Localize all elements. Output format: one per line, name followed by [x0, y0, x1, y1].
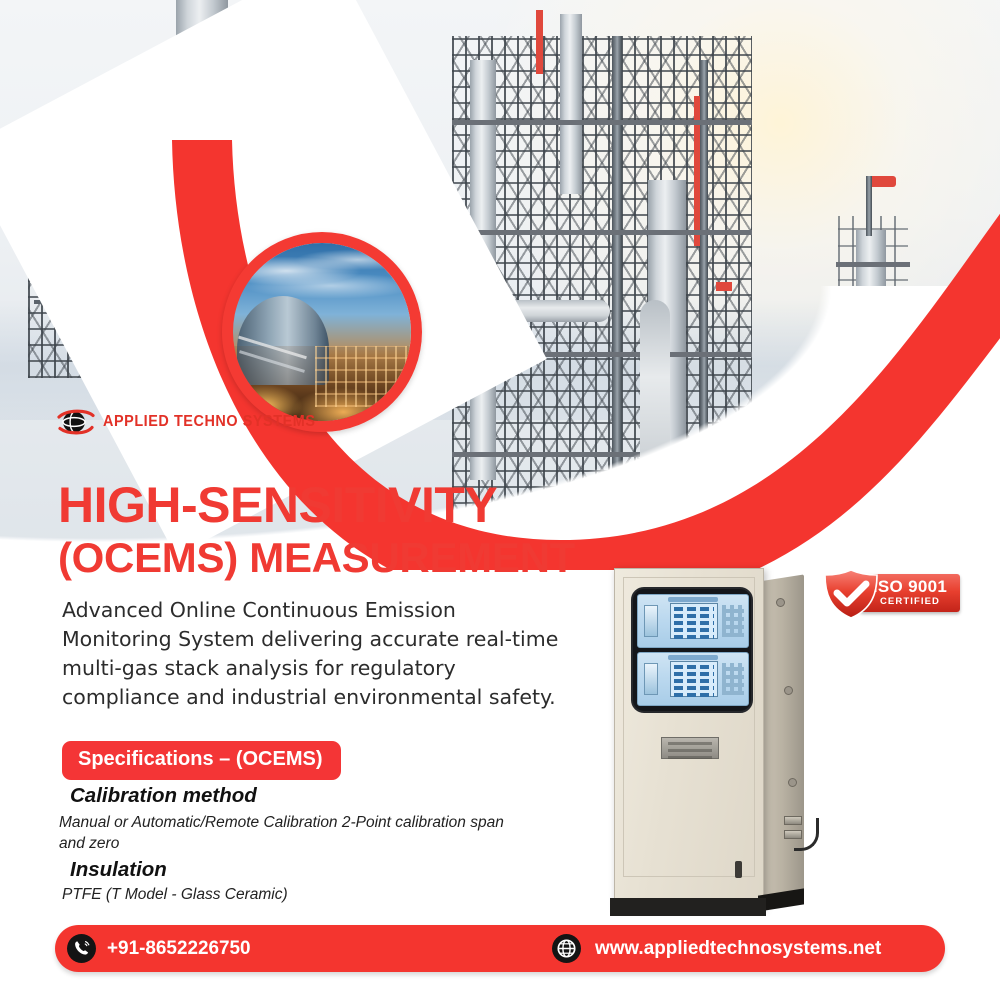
contact-footer-bar: +91-8652226750 www.appliedtechnosystems.… [55, 925, 945, 972]
platform [452, 230, 752, 235]
shield-check-icon [818, 568, 884, 620]
cabinet-base [610, 898, 766, 916]
spec-title-calibration-method: Calibration method [70, 784, 257, 808]
globe-icon [552, 934, 581, 963]
analyzer-panel-2 [637, 652, 749, 706]
red-stack-stripe [694, 96, 700, 246]
headline-line-1: HIGH-SENSITIVITY [58, 478, 658, 532]
panel-header-bar [668, 597, 718, 602]
hero-refinery-photo [0, 0, 1000, 560]
panel-header-bar [668, 655, 718, 660]
circle-inset-photo [222, 232, 422, 432]
instrument-window [631, 587, 753, 713]
panel-keypad [722, 605, 744, 637]
website-url[interactable]: www.appliedtechnosystems.net [595, 937, 881, 960]
platform [836, 262, 910, 267]
refinery-rig [315, 346, 408, 407]
platform [452, 120, 752, 125]
cabinet-cable [794, 818, 819, 851]
spec-detail-calibration-method: Manual or Automatic/Remote Calibration 2… [59, 812, 519, 854]
globe-orbit-icon [56, 408, 96, 436]
poster: APPLIED TECHNO SYSTEMS HIGH-SENSITIVITY … [0, 0, 1000, 1000]
cabinet-bolt [788, 778, 797, 787]
oil-storage-tank-photo [233, 243, 411, 421]
panel-lcd-display [670, 661, 718, 697]
phone-icon-circle[interactable] [67, 934, 96, 963]
headline-line-2: (OCEMS) MEASUREMENT [58, 532, 658, 584]
wind-flag [872, 176, 896, 187]
phone-icon [67, 934, 96, 963]
specifications-badge: Specifications – (OCEMS) [62, 741, 341, 780]
globe-icon-circle[interactable] [552, 934, 581, 963]
cabinet-bolt [776, 598, 785, 607]
logo-text: APPLIED TECHNO SYSTEMS [103, 413, 316, 431]
cabinet-nameplate [661, 737, 719, 759]
cabinet-front-door [614, 568, 764, 908]
iso-certification-badge: ISO 9001 CERTIFIED [818, 568, 960, 620]
brand-logo[interactable]: APPLIED TECHNO SYSTEMS [56, 408, 332, 436]
cabinet-door-handle [735, 861, 742, 878]
spec-title-insulation: Insulation [70, 858, 167, 882]
tower-column [560, 14, 582, 194]
analyzer-panel-1 [637, 594, 749, 648]
ocems-analyzer-cabinet [608, 568, 813, 920]
panel-gauge [644, 605, 658, 637]
page-title: HIGH-SENSITIVITY (OCEMS) MEASUREMENT [58, 478, 658, 584]
red-stack-stripe [536, 10, 543, 74]
panel-lcd-display [670, 603, 718, 639]
phone-number[interactable]: +91-8652226750 [107, 937, 251, 960]
panel-gauge [644, 663, 658, 695]
panel-keypad [722, 663, 744, 695]
description-text: Advanced Online Continuous Emission Moni… [62, 596, 562, 712]
cabinet-bolt [784, 686, 793, 695]
spec-detail-insulation: PTFE (T Model - Glass Ceramic) [62, 884, 522, 905]
